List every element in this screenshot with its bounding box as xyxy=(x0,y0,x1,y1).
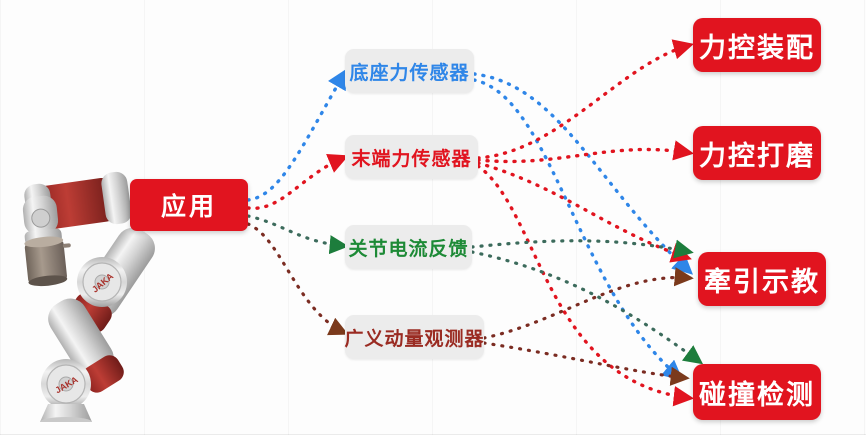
link-joint-current-to-collision-detect xyxy=(472,252,700,362)
sensor-node-momentum-observer[interactable]: 广义动量观测器 xyxy=(345,315,484,359)
link-app-to-joint-current xyxy=(248,216,345,246)
link-app-to-base-force-sensor xyxy=(248,72,345,200)
sensor-node-label: 底座力传感器 xyxy=(349,58,469,85)
diagram-canvas: JAKA JAKA xyxy=(0,0,866,435)
link-end-force-to-force-grinding xyxy=(478,150,690,162)
sensor-node-label: 末端力传感器 xyxy=(351,144,471,171)
sensor-node-base-force-sensor[interactable]: 底座力传感器 xyxy=(345,49,474,93)
sensor-node-end-force-sensor[interactable]: 末端力传感器 xyxy=(345,135,478,179)
source-node-label: 应用 xyxy=(161,187,217,223)
link-app-to-momentum-observer xyxy=(248,224,345,333)
source-node-application[interactable]: 应用 xyxy=(130,179,248,231)
sensor-node-label: 广义动量观测器 xyxy=(345,324,485,351)
application-node-label: 牽引示教 xyxy=(704,260,820,299)
link-base-force-to-collision-detect xyxy=(474,80,680,378)
link-app-to-end-force-sensor xyxy=(248,157,345,208)
link-momentum-to-hand-guiding xyxy=(484,278,690,338)
application-node-collision-detect[interactable]: 碰撞检测 xyxy=(693,364,821,420)
application-node-force-grinding[interactable]: 力控打磨 xyxy=(693,126,821,180)
link-momentum-to-collision-detect xyxy=(484,343,686,378)
application-node-hand-guiding[interactable]: 牽引示教 xyxy=(698,252,826,306)
application-node-label: 力控装配 xyxy=(699,26,815,65)
link-end-force-to-collision-detect xyxy=(478,166,690,398)
sensor-node-joint-current[interactable]: 关节电流反馈 xyxy=(345,225,472,269)
link-base-force-to-hand-guiding xyxy=(474,74,690,272)
sensor-node-label: 关节电流反馈 xyxy=(348,234,468,261)
application-node-force-assembly[interactable]: 力控装配 xyxy=(693,18,821,72)
application-node-label: 力控打磨 xyxy=(699,134,815,173)
link-end-force-to-force-assembly xyxy=(478,45,690,158)
application-node-label: 碰撞检测 xyxy=(699,373,815,412)
